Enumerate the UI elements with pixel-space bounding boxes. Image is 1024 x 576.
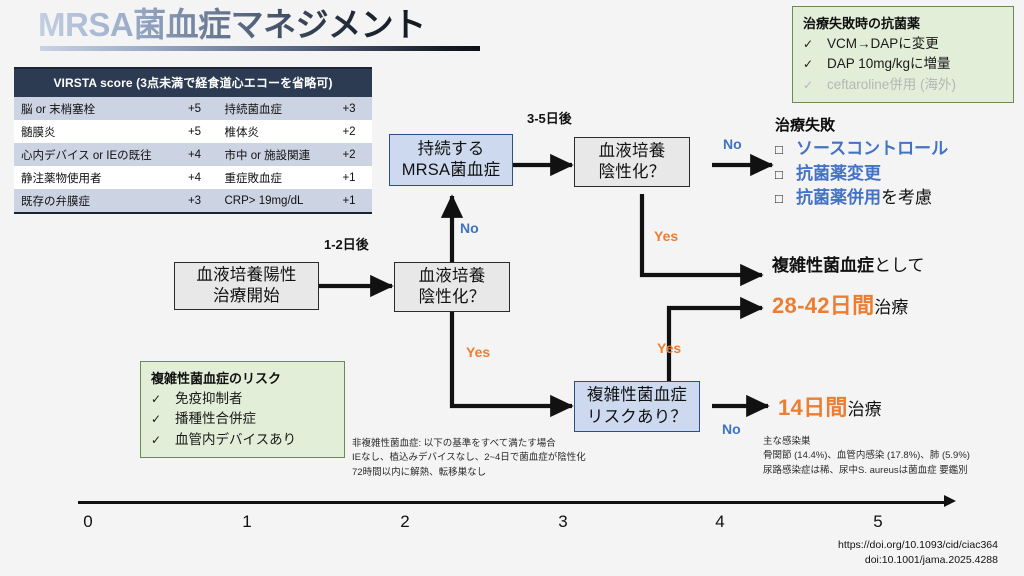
outcome-duration-long-value: 28-42日間 (772, 293, 874, 318)
timeline-axis-arrowhead (944, 495, 956, 507)
treatment-failure-item[interactable]: □抗菌薬変更 (775, 162, 948, 187)
complicated-risk-item-label: 免疫抑制者 (175, 389, 243, 409)
reference-line-2: doi:10.1001/jama.2025.4288 (838, 553, 998, 568)
stage-label-1-2-days: 1-2日後 (324, 234, 369, 253)
flow-box-persistent-mrsa[interactable]: 持続する MRSA菌血症 (389, 134, 513, 186)
flow-box-culture-negative-1[interactable]: 血液培養 陰性化？ (394, 262, 510, 312)
treatment-failure-item[interactable]: □ソースコントロール (775, 137, 948, 162)
virsta-row-label-left: 既存の弁膜症 (14, 189, 172, 213)
virsta-row-score-right: +1 (326, 189, 372, 213)
footnote-left-line-3: 72時間以内に解熱、転移巣なし (352, 466, 586, 480)
table-row: 髄膜炎+5椎体炎+2 (14, 120, 372, 143)
check-icon: ✓ (803, 55, 827, 73)
check-icon: ✓ (803, 76, 827, 94)
outcome-complicated-rest: として (874, 256, 925, 275)
timeline-tick-label: 0 (68, 512, 108, 532)
table-header-row: VIRSTA score (3点未満で経食道心エコーを省略可) (14, 68, 372, 97)
outcome-duration-short-value: 14日間 (778, 395, 848, 420)
flow-box-risk-line2: リスクあり？ (587, 407, 687, 428)
checkbox-square-icon[interactable]: □ (775, 166, 796, 185)
virsta-row-label-right: 市中 or 施設関連 (218, 143, 327, 166)
virsta-table-header: VIRSTA score (3点未満で経食道心エコーを省略可) (14, 68, 372, 97)
flow-box-persistent-line2: MRSA菌血症 (402, 160, 501, 181)
virsta-row-label-left: 静注薬物使用者 (14, 166, 172, 189)
footnote-right-line-3: 尿路感染症は稀、尿中S. aureusは菌血症 要鑑別 (763, 464, 970, 478)
treatment-failure-item-highlight: ソースコントロール (796, 137, 948, 162)
flow-box-start-line2: 治療開始 (213, 286, 280, 307)
checkbox-square-icon[interactable]: □ (775, 141, 796, 160)
page-title-wrapper: MRSA菌血症マネジメント (38, 4, 426, 45)
complicated-risk-item-label: 血管内デバイスあり (175, 430, 296, 450)
complicated-risk-item-label: 播種性合併症 (175, 409, 256, 429)
virsta-row-score-left: +5 (172, 97, 218, 120)
reference-citations: https://doi.org/10.1093/cid/ciac364 doi:… (838, 538, 998, 568)
outcome-complicated-bold: 複雑性菌血症 (772, 256, 874, 275)
virsta-row-score-right: +2 (326, 143, 372, 166)
checkbox-square-icon[interactable]: □ (775, 190, 796, 209)
edge-label-yes-culture2: Yes (654, 228, 678, 244)
failure-drug-item: ✓DAP 10mg/kgに増量 (803, 54, 1003, 74)
virsta-row-score-left: +5 (172, 120, 218, 143)
table-row: 脳 or 末梢塞栓+5持続菌血症+3 (14, 97, 372, 120)
footnote-right-line-1: 主な感染巣 (763, 435, 970, 449)
flow-box-risk-line1: 複雑性菌血症 (587, 385, 687, 406)
complicated-risk-item: ✓血管内デバイスあり (151, 430, 334, 450)
treatment-failure-item-rest: を考慮 (881, 186, 932, 211)
complicated-risk-title: 複雑性菌血症のリスク (151, 368, 334, 387)
flow-box-culture2-line1: 血液培養 (599, 141, 666, 162)
timeline-axis-line (78, 501, 948, 504)
virsta-row-label-right: CRP> 19mg/dL (218, 189, 327, 213)
check-icon: ✓ (803, 35, 827, 53)
page-title: MRSA菌血症マネジメント (38, 4, 426, 45)
virsta-row-label-left: 心内デバイス or IEの既往 (14, 143, 172, 166)
edge-label-no-risk: No (722, 421, 741, 437)
flow-box-start[interactable]: 血液培養陽性 治療開始 (174, 262, 319, 310)
outcome-duration-short: 14日間治療 (778, 390, 882, 422)
footnote-left-line-2: IEなし、植込みデバイスなし、2~4日で菌血症が陰性化 (352, 451, 586, 465)
edge-label-no-right: No (723, 136, 742, 152)
check-icon: ✓ (151, 390, 175, 408)
reference-line-1: https://doi.org/10.1093/cid/ciac364 (838, 538, 998, 553)
footnote-right-line-2: 骨関節 (14.4%)、血管内感染 (17.8%)、肺 (5.9%) (763, 449, 970, 463)
failure-drug-item-label: ceftaroline併用 (海外) (827, 75, 956, 95)
flow-box-persistent-line1: 持続する (418, 139, 485, 160)
timeline-tick-label: 2 (385, 512, 425, 532)
check-icon: ✓ (151, 431, 175, 449)
failure-drugs-callout: 治療失敗時の抗菌薬 ✓VCM→DAPに変更✓DAP 10mg/kgに増量✓cef… (792, 6, 1014, 103)
table-row: 既存の弁膜症+3CRP> 19mg/dL+1 (14, 189, 372, 213)
virsta-row-score-right: +2 (326, 120, 372, 143)
edge-label-no-up: No (460, 220, 479, 236)
outcome-duration-short-suffix: 治療 (848, 400, 882, 419)
virsta-row-score-left: +4 (172, 143, 218, 166)
virsta-row-label-right: 持続菌血症 (218, 97, 327, 120)
treatment-failure-panel: 治療失敗 □ソースコントロール□抗菌薬変更□抗菌薬併用を考慮 (775, 114, 948, 211)
virsta-row-label-left: 髄膜炎 (14, 120, 172, 143)
virsta-row-score-right: +3 (326, 97, 372, 120)
virsta-row-score-left: +3 (172, 189, 218, 213)
failure-drugs-title: 治療失敗時の抗菌薬 (803, 13, 1003, 32)
outcome-complicated-label: 複雑性菌血症として (772, 255, 925, 277)
footnote-uncomplicated: 非複雑性菌血症: 以下の基準をすべて満たす場合 IEなし、植込みデバイスなし、2… (352, 437, 586, 480)
timeline-tick-label: 3 (543, 512, 583, 532)
flow-box-culture1-line2: 陰性化？ (419, 287, 486, 308)
treatment-failure-item-highlight: 抗菌薬変更 (796, 162, 881, 187)
failure-drug-item: ✓ceftaroline併用 (海外) (803, 75, 1003, 95)
timeline-tick-label: 1 (227, 512, 267, 532)
complicated-risk-callout: 複雑性菌血症のリスク ✓免疫抑制者✓播種性合併症✓血管内デバイスあり (140, 361, 345, 458)
treatment-failure-item[interactable]: □抗菌薬併用を考慮 (775, 186, 948, 211)
treatment-failure-item-highlight: 抗菌薬併用 (796, 186, 881, 211)
edge-label-yes-risk: Yes (657, 340, 681, 356)
timeline-tick-label: 4 (700, 512, 740, 532)
footnote-left-line-1: 非複雑性菌血症: 以下の基準をすべて満たす場合 (352, 437, 586, 451)
treatment-failure-heading: 治療失敗 (775, 114, 948, 135)
edge-label-yes-culture1: Yes (466, 344, 490, 360)
virsta-row-score-right: +1 (326, 166, 372, 189)
outcome-duration-long: 28-42日間治療 (772, 288, 908, 320)
table-row: 心内デバイス or IEの既往+4市中 or 施設関連+2 (14, 143, 372, 166)
flow-box-start-line1: 血液培養陽性 (196, 265, 296, 286)
virsta-row-label-right: 椎体炎 (218, 120, 327, 143)
outcome-duration-long-suffix: 治療 (874, 298, 908, 317)
flow-box-complicated-risk[interactable]: 複雑性菌血症 リスクあり？ (574, 381, 700, 432)
complicated-risk-item: ✓播種性合併症 (151, 409, 334, 429)
virsta-score-table: VIRSTA score (3点未満で経食道心エコーを省略可) 脳 or 末梢塞… (14, 67, 372, 214)
stage-label-3-5-days: 3-5日後 (527, 108, 572, 127)
flow-box-culture1-line1: 血液培養 (419, 266, 486, 287)
virsta-row-label-left: 脳 or 末梢塞栓 (14, 97, 172, 120)
footnote-infection-foci: 主な感染巣 骨関節 (14.4%)、血管内感染 (17.8%)、肺 (5.9%)… (763, 435, 970, 478)
failure-drug-item-label: DAP 10mg/kgに増量 (827, 54, 951, 74)
title-underline-rule (40, 46, 480, 51)
table-row: 静注薬物使用者+4重症敗血症+1 (14, 166, 372, 189)
timeline-tick-label: 5 (858, 512, 898, 532)
failure-drug-item: ✓VCM→DAPに変更 (803, 34, 1003, 54)
flow-box-culture-negative-2[interactable]: 血液培養 陰性化？ (574, 137, 690, 187)
complicated-risk-item: ✓免疫抑制者 (151, 389, 334, 409)
failure-drug-item-label: VCM→DAPに変更 (827, 34, 939, 54)
flow-box-culture2-line2: 陰性化？ (599, 162, 666, 183)
virsta-row-label-right: 重症敗血症 (218, 166, 327, 189)
check-icon: ✓ (151, 410, 175, 428)
virsta-row-score-left: +4 (172, 166, 218, 189)
